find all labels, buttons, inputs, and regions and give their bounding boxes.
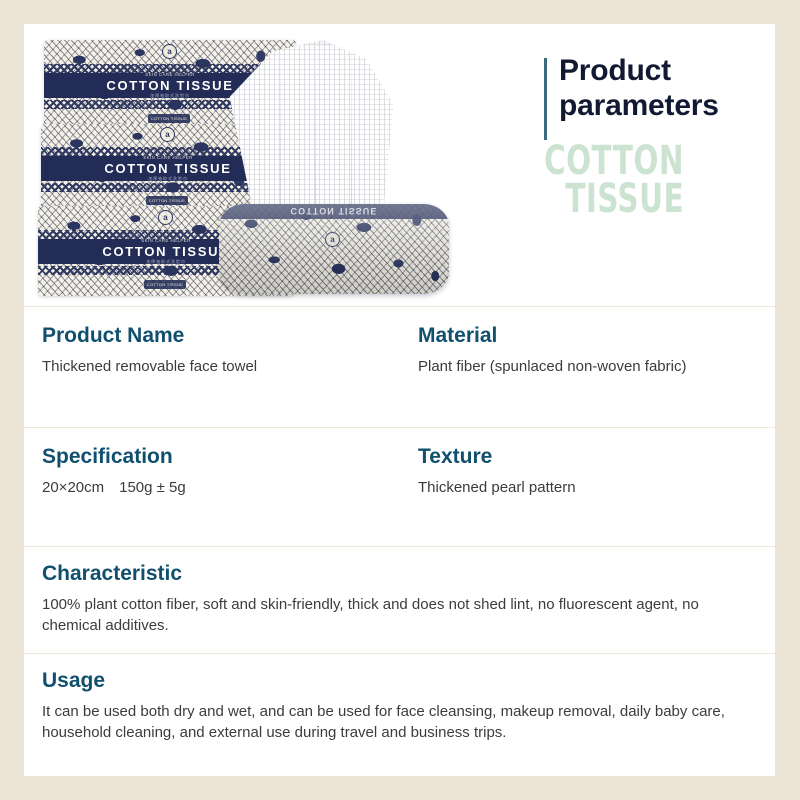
spec-cell-material: Material Plant fiber (spunlaced non-wove…: [400, 307, 775, 427]
pack-band-sup: SKIN CARE HELPER: [141, 239, 191, 243]
spec-value: Thickened pearl pattern: [418, 477, 757, 498]
spec-key: Product Name: [42, 324, 382, 347]
pack-seal: COTTON TISSUE: [146, 196, 188, 205]
pack-band-main: COTTON TISSUE: [106, 79, 233, 92]
watermark-line-1: COTTON: [544, 142, 734, 180]
brand-logo-icon: a: [325, 232, 340, 247]
pack-band-sub: 加厚抽取式洗脸巾: [150, 94, 190, 98]
title-accent-bar: [544, 58, 547, 140]
product-photo: a SKIN CARE HELPER COTTON TISSUE 加厚抽取式洗脸…: [24, 24, 534, 306]
pack-band-sup: SKIN CARE HELPER: [145, 73, 195, 77]
spec-row-2: Specification 20×20cm 150g ± 5g Texture …: [24, 428, 775, 546]
pack-seal: COTTON TISSUE: [148, 114, 190, 123]
hero-section: a SKIN CARE HELPER COTTON TISSUE 加厚抽取式洗脸…: [24, 24, 775, 306]
page-title-line-2: parameters: [559, 89, 775, 124]
watermark-line-2: TISSUE: [544, 180, 734, 218]
pack-seal: COTTON TISSUE: [144, 280, 186, 289]
section-value: 100% plant cotton fiber, soft and skin-f…: [42, 594, 757, 637]
hero-text-block: Product parameters COTTON TISSUE: [544, 54, 775, 218]
section-value: It can be used both dry and wet, and can…: [42, 701, 757, 744]
section-key: Characteristic: [42, 562, 757, 585]
spec-key: Specification: [42, 445, 382, 468]
pack-band-sup: SKIN CARE HELPER: [143, 156, 193, 160]
section-key: Usage: [42, 669, 757, 692]
spec-cell-texture: Texture Thickened pearl pattern: [400, 428, 775, 546]
spec-row-1: Product Name Thickened removable face to…: [24, 307, 775, 427]
spec-cell-product-name: Product Name Thickened removable face to…: [24, 307, 400, 427]
section-usage: Usage It can be used both dry and wet, a…: [24, 654, 775, 776]
pack-band-main: COTTON TISSUE: [102, 245, 229, 258]
brand-logo-icon: a: [162, 44, 177, 59]
spec-key: Material: [418, 324, 757, 347]
box-lip-label: COTTON TISSUE: [219, 204, 449, 219]
spec-cell-specification: Specification 20×20cm 150g ± 5g: [24, 428, 400, 546]
spec-value: Plant fiber (spunlaced non-woven fabric): [418, 356, 757, 377]
page-root: a SKIN CARE HELPER COTTON TISSUE 加厚抽取式洗脸…: [0, 0, 800, 800]
product-spec-card: a SKIN CARE HELPER COTTON TISSUE 加厚抽取式洗脸…: [24, 24, 775, 776]
section-characteristic: Characteristic 100% plant cotton fiber, …: [24, 547, 775, 653]
spec-value: Thickened removable face towel: [42, 356, 382, 377]
tissue-box-open: a COTTON TISSUE: [219, 204, 449, 294]
page-title: Product parameters: [544, 54, 775, 124]
pack-band-sub: 加厚抽取式洗脸巾: [148, 177, 188, 181]
spec-value: 20×20cm 150g ± 5g: [42, 477, 382, 498]
pack-band-main: COTTON TISSUE: [104, 162, 231, 175]
pack-band-sub: 加厚抽取式洗脸巾: [146, 260, 186, 264]
watermark-text: COTTON TISSUE: [544, 142, 734, 219]
brand-logo-icon: a: [158, 210, 173, 225]
brand-logo-icon: a: [160, 127, 175, 142]
page-title-line-1: Product: [559, 54, 775, 89]
spec-key: Texture: [418, 445, 757, 468]
